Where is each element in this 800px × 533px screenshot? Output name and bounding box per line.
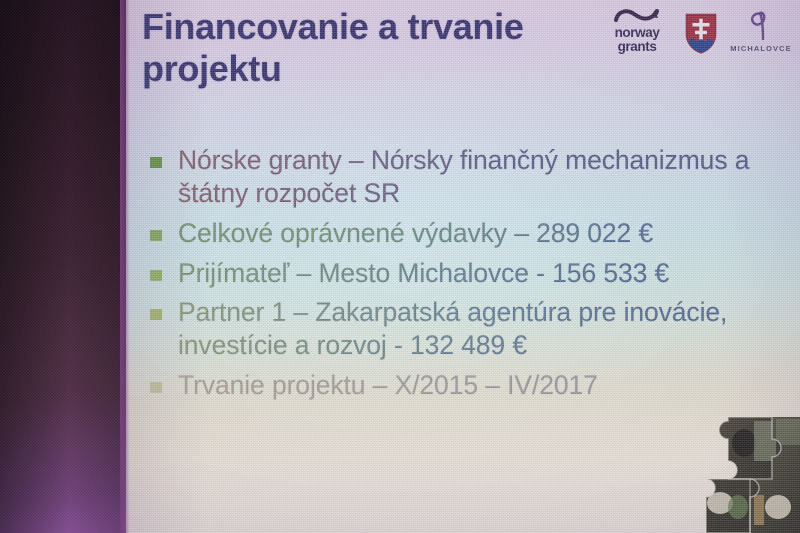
bullet-square-icon [150, 309, 162, 320]
logo-strip: norway grants MICHALOVCE [600, 8, 794, 66]
norway-grants-logo: norway grants [600, 8, 674, 53]
list-item: Trvanie projektu – X/2015 – IV/2017 [144, 369, 794, 402]
list-item-label: Partner 1 – Zakarpatská agentúra pre ino… [178, 297, 727, 360]
norway-grants-line-1: norway [615, 26, 660, 40]
michalovce-loop-icon [748, 10, 774, 42]
norway-grants-line-2: grants [615, 40, 660, 54]
projected-slide-photo: Financovanie a trvanie projektu norway g… [0, 0, 800, 533]
bullet-square-icon [150, 230, 162, 241]
puzzle-pieces-graphic [692, 403, 800, 533]
michalovce-wordmark: MICHALOVCE [730, 44, 791, 53]
list-item: Prijímateľ – Mesto Michalovce - 156 533 … [144, 257, 794, 290]
slide-title-line-2: projektu [142, 48, 612, 90]
puzzle-pieces-icon [692, 403, 800, 533]
slovak-coat-of-arms-icon [684, 8, 718, 55]
bullet-list: Nórske granty – Nórsky finančný mechaniz… [144, 144, 794, 409]
list-item-label: Nórske granty – Nórsky finančný mechaniz… [178, 145, 749, 208]
slide-title: Financovanie a trvanie projektu [142, 6, 612, 90]
slide-canvas: Financovanie a trvanie projektu norway g… [126, 0, 800, 533]
list-item: Nórske granty – Nórsky finančný mechaniz… [144, 144, 794, 210]
michalovce-logo: MICHALOVCE [728, 8, 794, 53]
bullet-square-icon [150, 157, 162, 168]
list-item-label: Prijímateľ – Mesto Michalovce - 156 533 … [178, 258, 669, 288]
norway-grants-wave-icon [614, 8, 660, 25]
list-item: Celkové oprávnené výdavky – 289 022 € [144, 217, 794, 250]
bullet-square-icon [150, 270, 162, 281]
slide-title-line-1: Financovanie a trvanie [142, 6, 612, 48]
list-item: Partner 1 – Zakarpatská agentúra pre ino… [144, 296, 794, 362]
list-item-label: Celkové oprávnené výdavky – 289 022 € [178, 218, 653, 248]
screen-edge-glow [120, 0, 129, 533]
bullet-square-icon [150, 382, 162, 393]
list-item-label: Trvanie projektu – X/2015 – IV/2017 [178, 370, 598, 400]
dark-surround-left [0, 0, 126, 533]
norway-grants-wordmark: norway grants [615, 26, 660, 53]
